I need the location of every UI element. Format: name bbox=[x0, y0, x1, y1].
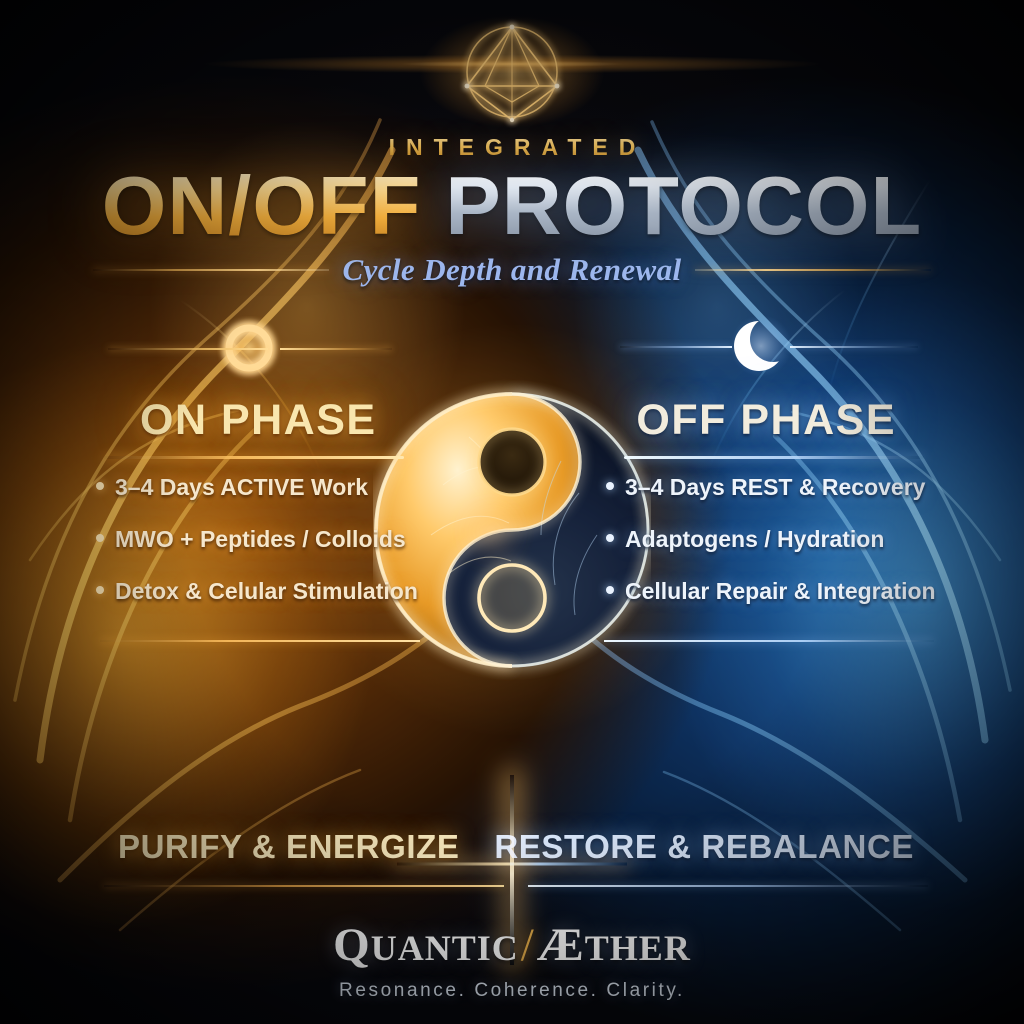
poster-canvas: INTEGRATED ON/OFF PROTOCOL Cycle Depth a… bbox=[0, 0, 1024, 1024]
vignette-overlay bbox=[0, 0, 1024, 1024]
